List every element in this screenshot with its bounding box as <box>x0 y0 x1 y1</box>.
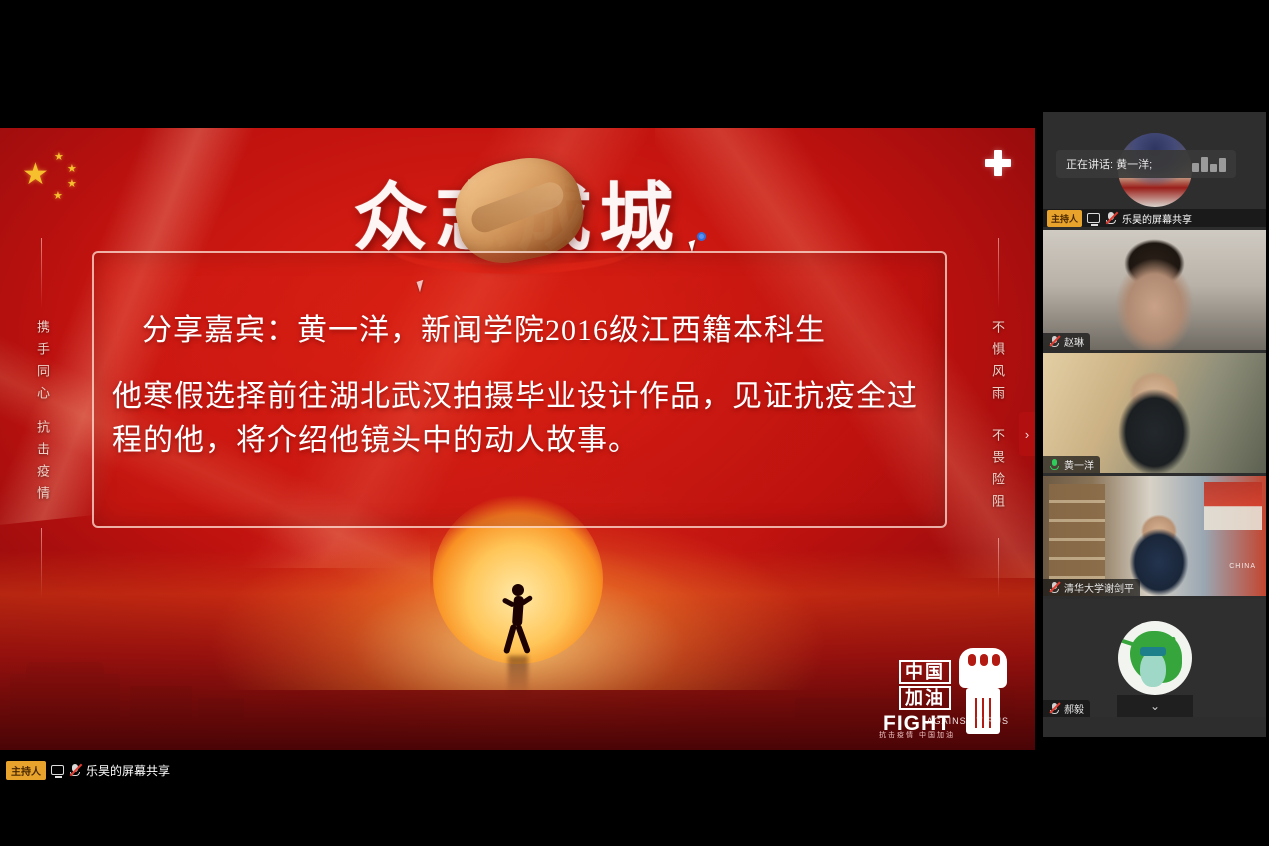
participant-tile[interactable]: 黄一洋 <box>1043 353 1266 473</box>
logo-cn-line2: 加油 <box>899 686 951 710</box>
chevron-down-icon[interactable]: ⌄ <box>1117 695 1193 717</box>
participant-name-bar: 黄一洋 <box>1043 456 1100 473</box>
poster-text: CHINA <box>1229 563 1256 570</box>
slide-artwork: 众志成城 <box>0 154 1035 266</box>
host-badge: 主持人 <box>1047 210 1082 227</box>
slogan-left-bottom: 抗击疫情 <box>33 420 52 508</box>
meeting-window: ★ ★ ★ ★ ★ 携手同心 抗击疫情 不惧风雨 不畏险阻 众志成城 <box>0 0 1269 846</box>
participant-name-bar: 清华大学谢剑平 <box>1043 579 1140 596</box>
participant-name: 郝毅 <box>1064 701 1084 716</box>
participant-tile[interactable]: CHINA 清华大学谢剑平 <box>1043 476 1266 596</box>
slogan-right-bottom: 不畏险阻 <box>988 428 1007 516</box>
share-status-bar: 主持人 乐昊的屏幕共享 <box>0 760 170 780</box>
presentation-slide: ★ ★ ★ ★ ★ 携手同心 抗击疫情 不惧风雨 不畏险阻 众志成城 <box>0 128 1035 750</box>
bookshelf-background <box>1049 484 1105 580</box>
slogan-divider <box>41 528 42 598</box>
screen-share-icon <box>51 765 64 775</box>
participant-name-bar: 郝毅 <box>1043 700 1090 717</box>
audio-wave-icon <box>1192 157 1226 172</box>
fight-against-virus-logo: 中国 加油 FIGHT AGAINST VIRUS 抗击疫情 中国加油 <box>863 646 1013 750</box>
mic-muted-icon <box>1049 702 1060 715</box>
runner-reflection <box>508 656 528 696</box>
mic-on-icon <box>1049 458 1060 471</box>
slide-text-card: 分享嘉宾：黄一洋，新闻学院2016级江西籍本科生 他寒假选择前往湖北武汉拍摄毕业… <box>92 251 947 528</box>
green-mascot-avatar <box>1118 621 1192 695</box>
participant-name: 黄一洋 <box>1064 457 1094 472</box>
mic-muted-icon <box>1105 211 1117 225</box>
slogan-left-top: 携手同心 <box>33 320 52 408</box>
chevron-right-icon[interactable]: › <box>1019 412 1035 456</box>
mic-muted-icon <box>1049 581 1060 594</box>
running-silhouette-icon <box>503 584 533 658</box>
participant-tile[interactable]: 赵琳 <box>1043 230 1266 350</box>
logo-en-sub: AGAINST VIRUS <box>927 716 1009 726</box>
logo-en-tiny: 抗击疫情 中国加油 <box>879 730 955 740</box>
slogan-divider <box>998 538 999 598</box>
screen-share-icon <box>1087 213 1100 223</box>
host-badge: 主持人 <box>6 761 46 780</box>
participant-name: 清华大学谢剑平 <box>1064 580 1134 595</box>
share-label: 乐昊的屏幕共享 <box>1122 211 1192 226</box>
poster-background <box>1204 482 1262 530</box>
speaking-banner: 正在讲话: 黄一洋; <box>1056 150 1236 178</box>
guest-intro-line: 分享嘉宾：黄一洋，新闻学院2016级江西籍本科生 <box>142 305 922 349</box>
participant-tile[interactable]: 郝毅 ⌄ <box>1043 599 1266 717</box>
slide-body-text: 他寒假选择前往湖北武汉拍摄毕业设计作品，见证抗疫全过程的他，将介绍他镜头中的动人… <box>112 375 932 463</box>
tile-host-bar: 主持人 乐昊的屏幕共享 <box>1043 209 1266 227</box>
share-label: 乐昊的屏幕共享 <box>86 762 170 779</box>
logo-cn-line1: 中国 <box>899 660 951 684</box>
speaking-text: 正在讲话: 黄一洋; <box>1066 156 1152 172</box>
participant-name: 赵琳 <box>1064 334 1084 349</box>
participant-name-bar: 赵琳 <box>1043 333 1090 350</box>
participant-rail: 正在讲话: 黄一洋; 主持人 乐昊的屏幕共享 赵琳 <box>1043 112 1266 737</box>
slogan-right-top: 不惧风雨 <box>988 320 1007 408</box>
mic-muted-icon <box>1049 335 1060 348</box>
participant-tile-host[interactable]: 正在讲话: 黄一洋; 主持人 乐昊的屏幕共享 <box>1043 112 1266 227</box>
mic-muted-icon <box>69 763 81 777</box>
shared-screen-stage: ★ ★ ★ ★ ★ 携手同心 抗击疫情 不惧风雨 不畏险阻 众志成城 <box>0 0 1035 846</box>
